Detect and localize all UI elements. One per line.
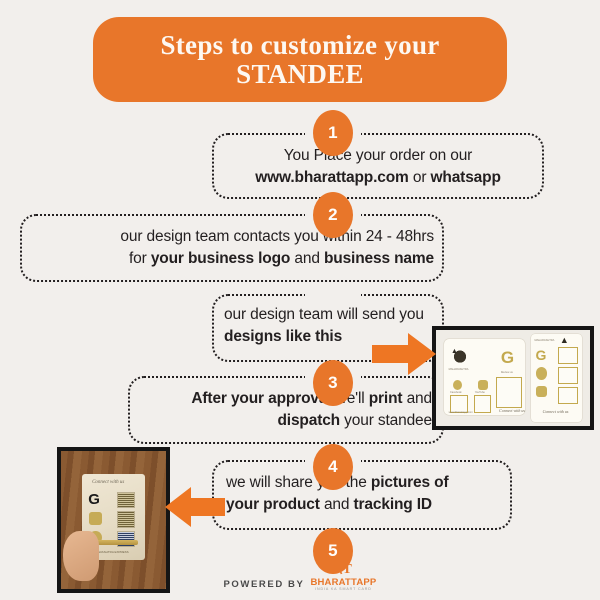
page-title: Steps to customize your STANDEE [93, 17, 507, 102]
arrow-left-to-product-icon [165, 487, 225, 527]
step-text-segment: your business logo [151, 250, 290, 267]
google-icon: G [88, 492, 100, 507]
step-text-segment: dispatch [277, 412, 340, 429]
step-text-segment: tracking ID [354, 496, 432, 513]
step-badge-5: 5 [313, 528, 353, 574]
design-card-left: ▲ MAHARASHTRA Facebook YouTube G Review … [444, 339, 526, 416]
step-badge-1: 1 [313, 110, 353, 156]
step-text-2: our design team contacts you within 24 -… [24, 226, 434, 270]
step-text-5: we will share you the pictures ofyour pr… [226, 472, 508, 516]
footer-tagline: INDIA KA SMART CARD [315, 588, 372, 592]
footer-powered-by: POWERED BY [224, 579, 305, 592]
step-text-1: You Place your order on ourwww.bharattap… [214, 145, 542, 189]
step-text-segment: our design team contacts you within 24 -… [120, 228, 434, 245]
step-text-segment: your standee [340, 412, 432, 429]
step-text-segment: and [320, 496, 354, 513]
step-text-segment: pictures of [371, 474, 449, 491]
step-text-segment: and [290, 250, 324, 267]
arrow-right-to-design-icon [372, 333, 436, 375]
design-preview-image: ▲ MAHARASHTRA Facebook YouTube G Review … [432, 326, 594, 430]
step-text-4: After your approval we'll print anddispa… [132, 388, 432, 432]
step-badge-2: 2 [313, 192, 353, 238]
step-text-segment: and [402, 390, 432, 407]
step-text-segment: After your approval [191, 390, 331, 407]
step-text-segment: whatsapp [430, 169, 500, 186]
footer-brand-name: BHARATTAPP [310, 578, 376, 588]
title-line-1: Steps to customize your [160, 31, 439, 60]
infographic-canvas: Steps to customize your STANDEE You Plac… [0, 0, 600, 600]
step-text-segment: or [409, 169, 431, 186]
step-text-segment: for [129, 250, 151, 267]
step-badge-4: 4 [313, 444, 353, 490]
product-photo-image: Connect with us G MAHARASHTRA EXPRESS [57, 447, 170, 593]
step-badge-3: 3 [313, 360, 353, 406]
step-text-segment: our design team will send you [224, 306, 424, 323]
step-text-segment: business name [324, 250, 434, 267]
design-card-right: MAHARASHTRA ▲ G Connect with us [531, 334, 582, 422]
step-text-segment: print [369, 390, 403, 407]
step-text-segment: You Place your order on our [284, 147, 472, 164]
instagram-icon [89, 512, 102, 525]
step-text-segment: designs like this [224, 328, 342, 345]
step-text-segment: www.bharattapp.com [255, 169, 408, 186]
step-text-segment: your product [226, 496, 320, 513]
title-line-2: STANDEE [236, 60, 364, 89]
